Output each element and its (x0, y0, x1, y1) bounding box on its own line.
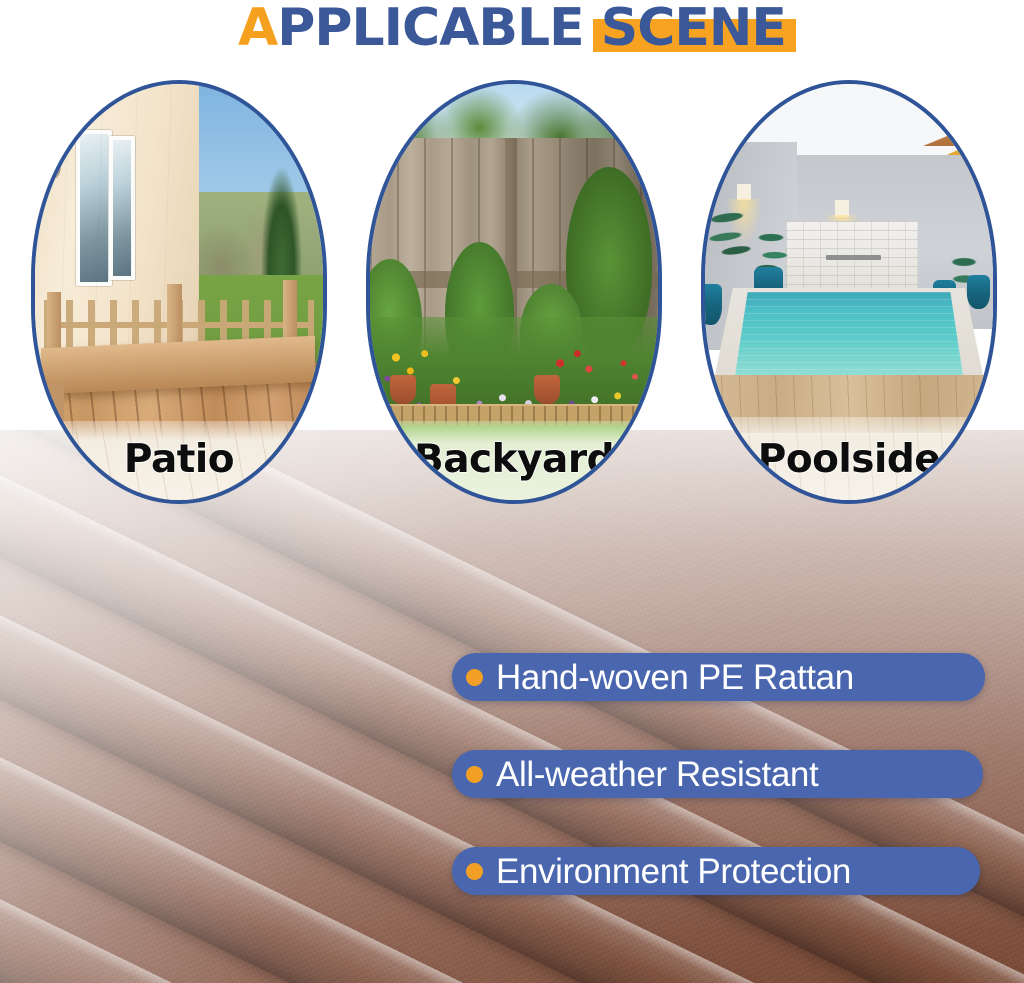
feature-pill-all-weather[interactable]: All-weather Resistant (452, 750, 983, 798)
bullet-dot-icon (466, 669, 483, 686)
water-spout (826, 255, 881, 260)
blue-planter (967, 275, 990, 308)
scene-label-poolside: Poolside (705, 437, 993, 482)
wall-lamp-icon (46, 152, 61, 180)
scene-label-backyard: Backyard (370, 437, 658, 482)
terracotta-pot (534, 375, 560, 404)
feature-pill-hand-woven[interactable]: Hand-woven PE Rattan (452, 653, 985, 701)
feature-label: All-weather Resistant (496, 757, 818, 792)
flowers (370, 321, 658, 417)
wall-sconce-icon (835, 200, 849, 217)
page-title: APPLICABLE SCENE (0, 0, 1024, 72)
rattan-white-fade (0, 430, 1024, 983)
title-highlight-group: SCENE (601, 0, 786, 58)
title-highlight-text: SCENE (601, 0, 786, 58)
feature-label: Hand-woven PE Rattan (496, 660, 854, 695)
title-accent-letter: A (238, 0, 277, 58)
scene-card-poolside[interactable]: Poolside (701, 80, 997, 504)
terracotta-pot (390, 375, 416, 404)
scene-label-patio: Patio (35, 437, 323, 482)
feature-label: Environment Protection (496, 854, 851, 889)
scene-card-backyard[interactable]: Backyard (366, 80, 662, 504)
bullet-dot-icon (466, 766, 483, 783)
bullet-dot-icon (466, 863, 483, 880)
feature-pill-environment[interactable]: Environment Protection (452, 847, 980, 895)
glass-door-right (109, 136, 135, 279)
pool-water (734, 292, 964, 384)
woven-rattan-background (0, 430, 1024, 983)
product-feature-panel: APPLICABLE SCENE Patio (0, 0, 1024, 983)
scene-card-patio[interactable]: Patio (31, 80, 327, 504)
title-main-text: PPLICABLE (277, 0, 583, 58)
glass-door-left (76, 130, 112, 286)
